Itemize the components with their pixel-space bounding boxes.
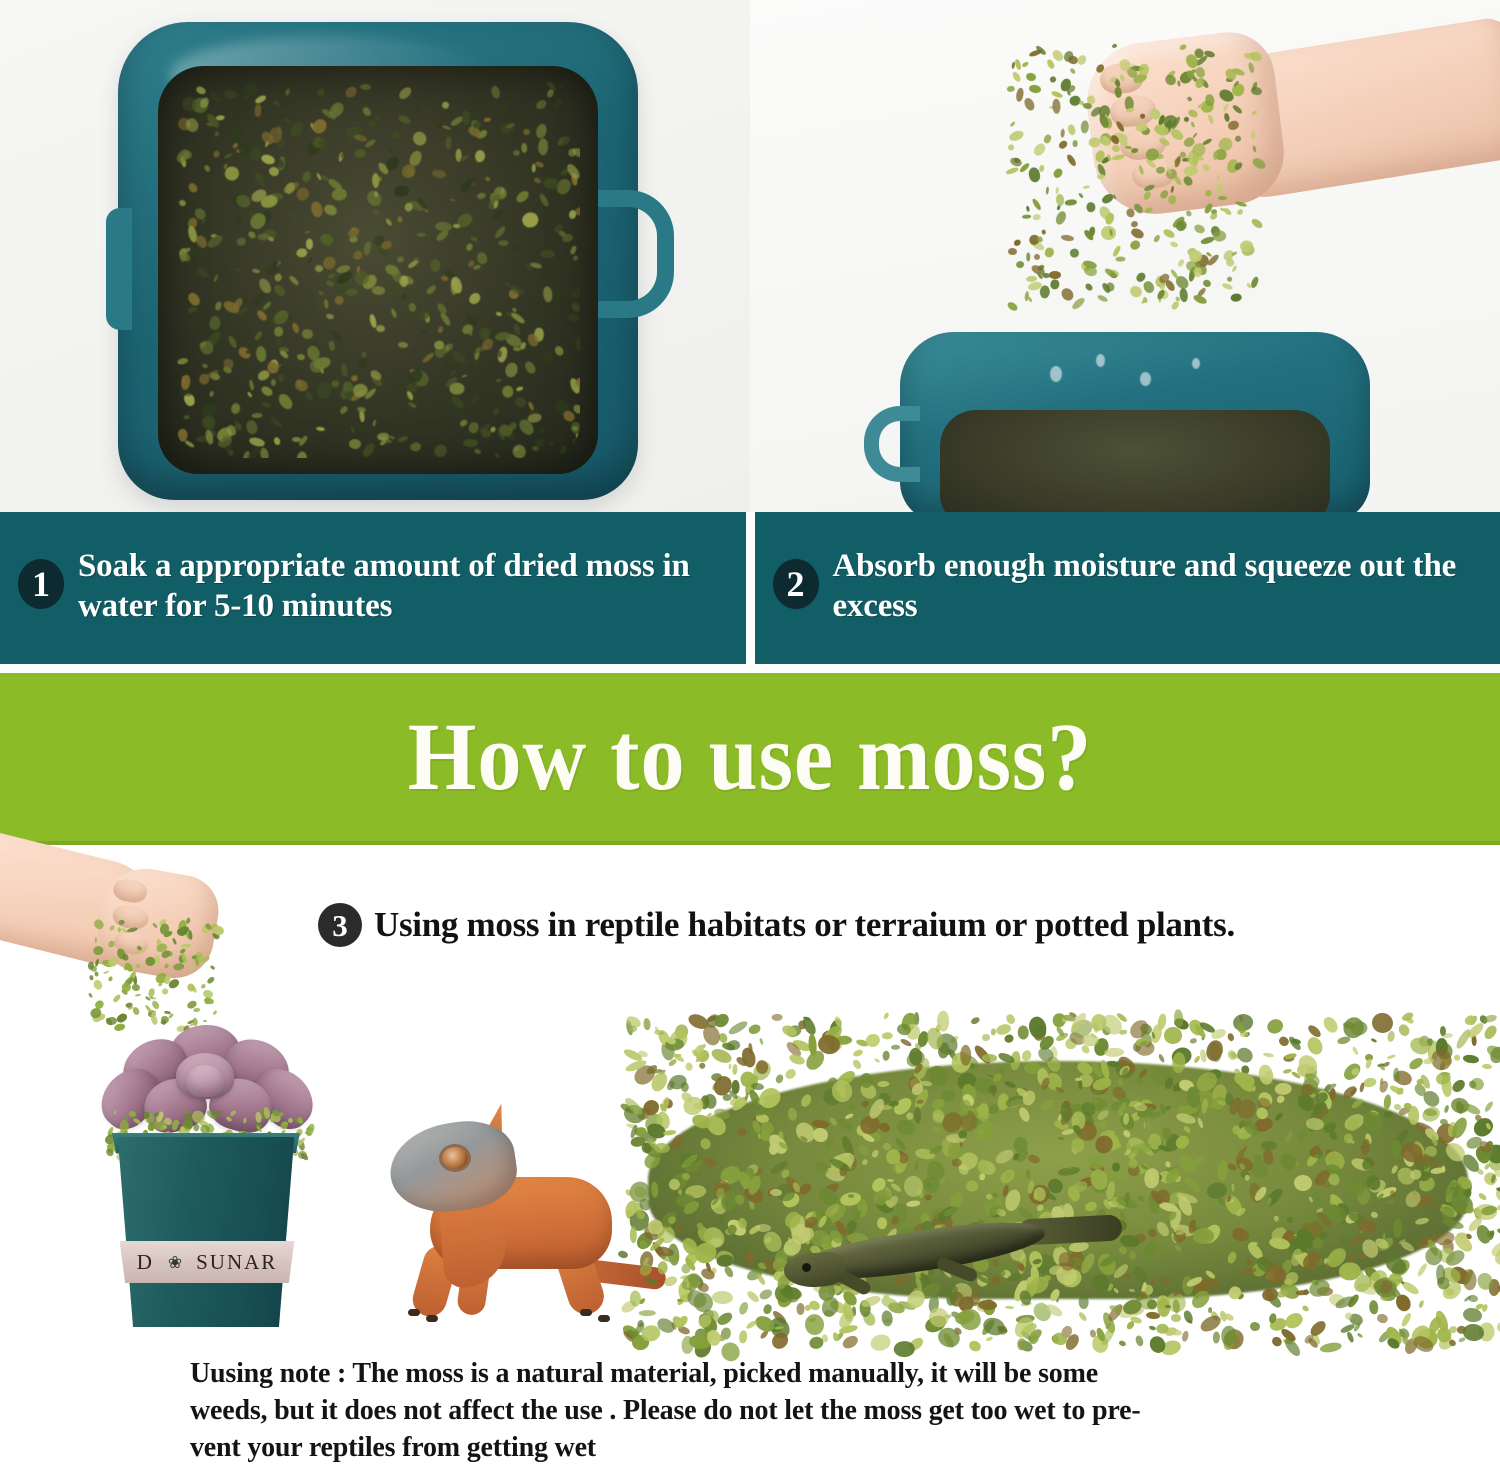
step-number-badge: 2 bbox=[773, 559, 819, 609]
pot-label: D ❀ SUNAR bbox=[116, 1241, 298, 1283]
usage-note: Uusing note : The moss is a natural mate… bbox=[190, 1355, 1340, 1467]
banner-step-2: 2 Absorb enough moisture and squeeze out… bbox=[755, 512, 1500, 664]
usage-note-line-1: Uusing note : The moss is a natural mate… bbox=[190, 1355, 1340, 1392]
usage-note-line-3: vent your reptiles from getting wet bbox=[190, 1429, 1340, 1466]
page-title: How to use moss? bbox=[408, 709, 1092, 805]
pot-label-brand-text: SUNAR bbox=[196, 1250, 277, 1275]
top-photo-row bbox=[0, 0, 1500, 512]
step-number-badge: 1 bbox=[18, 559, 64, 609]
potted-succulent: D ❀ SUNAR bbox=[52, 1013, 352, 1353]
iguana-claw bbox=[426, 1315, 438, 1322]
basin-handle-right bbox=[594, 190, 674, 318]
water-droplet bbox=[1192, 358, 1200, 369]
bottom-section: 3 Using moss in reptile habitats or terr… bbox=[0, 845, 1500, 1477]
photo-step-1 bbox=[0, 0, 750, 512]
iguana-claw bbox=[580, 1309, 592, 1316]
salamander-head bbox=[783, 1251, 847, 1289]
knuckle bbox=[112, 877, 149, 905]
basin-water-moss bbox=[940, 410, 1330, 512]
iguana-dewlap bbox=[439, 1201, 509, 1289]
water-droplet bbox=[1050, 366, 1062, 382]
nursery-pot bbox=[110, 1137, 302, 1327]
step-3-text: Using moss in reptile habitats or terrai… bbox=[374, 906, 1235, 945]
drain-basin-handle bbox=[864, 406, 920, 482]
iguana-claw bbox=[408, 1309, 420, 1316]
infographic-page: 1 Soak a appropriate amount of dried mos… bbox=[0, 0, 1500, 1477]
usage-note-line-2: weeds, but it does not affect the use . … bbox=[190, 1392, 1340, 1429]
pot-label-left-text: D bbox=[137, 1250, 154, 1275]
salamander bbox=[786, 1197, 1116, 1317]
photo-step-2 bbox=[750, 0, 1500, 512]
petal-core bbox=[186, 1065, 224, 1097]
moss-pile bbox=[618, 1013, 1498, 1343]
salamander-eye bbox=[802, 1263, 811, 1272]
step-2-text: Absorb enough moisture and squeeze out t… bbox=[833, 546, 1485, 627]
step-3-line: 3 Using moss in reptile habitats or terr… bbox=[318, 903, 1235, 947]
squeezing-hand bbox=[920, 10, 1480, 310]
step-banners: 1 Soak a appropriate amount of dried mos… bbox=[0, 512, 1500, 664]
water-droplet bbox=[1096, 354, 1105, 367]
drain-basin bbox=[900, 332, 1370, 512]
hand-dropping-moss bbox=[0, 845, 236, 1020]
iguana-claw bbox=[598, 1315, 610, 1322]
wet-moss-texture bbox=[176, 82, 581, 457]
headline-band: How to use moss? bbox=[0, 673, 1500, 845]
iguana-eye bbox=[442, 1147, 468, 1169]
step-number-badge: 3 bbox=[318, 903, 362, 947]
basin-handle-left bbox=[106, 208, 132, 330]
soaking-basin bbox=[118, 22, 638, 500]
step-1-text: Soak a appropriate amount of dried moss … bbox=[78, 546, 730, 627]
flower-icon: ❀ bbox=[168, 1254, 182, 1271]
squeezed-moss bbox=[1006, 44, 1256, 304]
water-droplet bbox=[1140, 372, 1151, 386]
basin-water bbox=[158, 66, 598, 474]
banner-step-1: 1 Soak a appropriate amount of dried mos… bbox=[0, 512, 746, 664]
